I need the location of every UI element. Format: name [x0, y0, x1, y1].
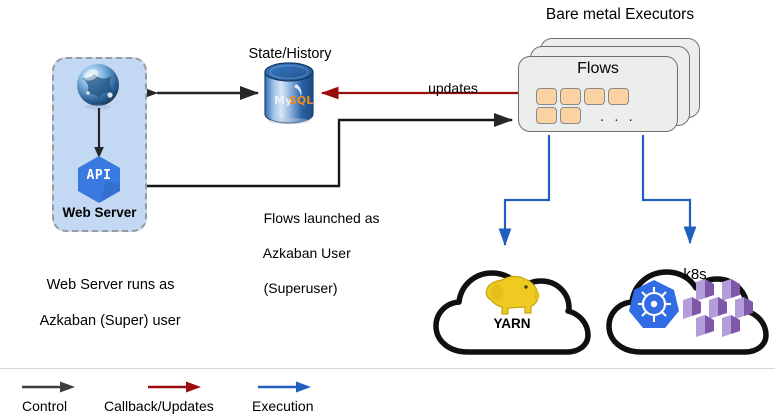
webserver-caption-line2: Azkaban (Super) user	[40, 313, 181, 329]
legend-callback-label: Callback/Updates	[104, 398, 214, 416]
flow-tile[interactable]	[560, 107, 581, 124]
edge-api-executors	[147, 120, 512, 186]
flow-tile[interactable]	[536, 88, 557, 105]
legend-callback-arrow	[148, 380, 202, 394]
legend-execution-label: Execution	[252, 398, 313, 416]
diagram-canvas: API Web Server Web Server runs as Azkaba…	[0, 0, 775, 420]
legend-control-label: Control	[22, 398, 67, 416]
flow-tile[interactable]	[584, 88, 605, 105]
flows-launched-caption: Flows launched as Azkaban User (Superuse…	[248, 192, 418, 315]
legend-divider	[0, 368, 775, 369]
flows-ellipsis: . . .	[600, 108, 640, 127]
api-label: API	[73, 168, 125, 184]
flows-title: Flows	[518, 59, 678, 79]
flow-tile[interactable]	[608, 88, 629, 105]
legend-control-arrow	[22, 380, 76, 394]
flows-launched-line3: (Superuser)	[264, 280, 338, 296]
yarn-label: YARN	[432, 316, 592, 333]
mysql-database-icon: My SQL	[263, 62, 315, 124]
hadoop-elephant-icon	[478, 272, 544, 318]
kubernetes-pods-icon	[680, 278, 758, 336]
flows-launched-line1: Flows launched as	[264, 210, 380, 226]
updates-edge-label: updates	[398, 80, 508, 98]
legend-execution-arrow	[258, 380, 312, 394]
k8s-label: k8s	[650, 266, 740, 285]
edge-executors-yarn	[505, 135, 549, 245]
flows-launched-line2: Azkaban User	[263, 245, 351, 261]
webserver-title: Web Server	[52, 205, 147, 222]
globe-icon	[74, 62, 122, 110]
flow-tile[interactable]	[536, 107, 557, 124]
webserver-caption-line1: Web Server runs as	[47, 277, 175, 293]
edge-executors-k8s	[643, 135, 690, 243]
executors-title: Bare metal Executors	[505, 5, 735, 24]
mysql-brand-sql: SQL	[289, 94, 313, 107]
kubernetes-helm-icon	[627, 278, 681, 332]
webserver-caption: Web Server runs as Azkaban (Super) user	[10, 258, 195, 349]
state-history-label: State/History	[230, 45, 350, 63]
flow-tile[interactable]	[560, 88, 581, 105]
